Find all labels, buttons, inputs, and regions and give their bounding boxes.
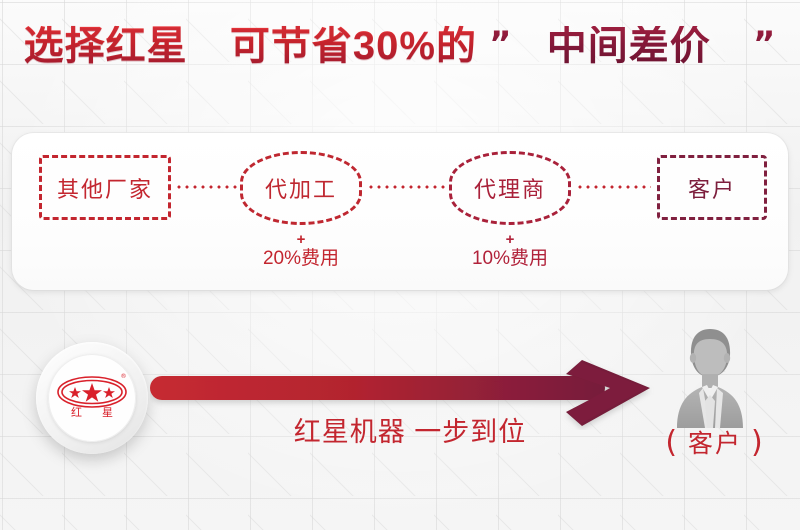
fee-amount: 10%费用 xyxy=(449,248,571,270)
hongxing-star-logo-icon: ® 红 星 xyxy=(48,354,136,442)
quote-open-mark: ” xyxy=(489,27,512,61)
connector-dots-1 xyxy=(175,185,237,189)
flow-node-label: 其他厂家 xyxy=(57,172,153,204)
headline-part1: 选择红星 xyxy=(24,26,188,66)
brand-logo-inner: ® 红 星 xyxy=(48,354,136,442)
bracket-left: ( xyxy=(665,425,679,460)
logo-brand-left: 红 xyxy=(71,406,82,419)
headline-emphasis: 中间差价 xyxy=(547,26,711,66)
flow-node-oem-processing: 代加工 xyxy=(240,151,362,225)
flow-row: 其他厂家 代加工 + 20%费用 代理商 + 10%费用 客户 xyxy=(12,133,788,290)
registered-mark: ® xyxy=(121,373,127,380)
logo-brand-right: 星 xyxy=(102,406,113,419)
page-title: 选择红星 可节省30%的 ” 中间差价 ” xyxy=(0,26,800,66)
fee-amount: 20%费用 xyxy=(240,248,362,270)
fee-plus-sign: + xyxy=(240,231,362,248)
flow-node-label: 客户 xyxy=(688,172,736,204)
fee-block-agent: + 10%费用 xyxy=(449,231,571,270)
flow-node-other-manufacturer: 其他厂家 xyxy=(39,155,171,220)
customer-label-tag: ( 客户 ) xyxy=(640,424,790,460)
fee-block-oem: + 20%费用 xyxy=(240,231,362,270)
flow-node-agent: 代理商 xyxy=(449,151,571,225)
quote-close-mark: ” xyxy=(753,27,776,61)
flow-node-label: 代加工 xyxy=(265,172,337,204)
businessman-silhouette-icon xyxy=(655,325,765,430)
connector-dots-3 xyxy=(576,185,651,189)
flow-node-label: 代理商 xyxy=(474,172,546,204)
flow-node-customer: 客户 xyxy=(657,155,767,220)
fee-plus-sign: + xyxy=(449,231,571,248)
connector-dots-2 xyxy=(367,185,445,189)
cost-chain-panel: 其他厂家 代加工 + 20%费用 代理商 + 10%费用 客户 xyxy=(12,133,788,290)
brand-logo-badge: ® 红 星 xyxy=(36,342,148,454)
headline-part2: 可节省30%的 xyxy=(230,26,477,66)
customer-avatar xyxy=(655,325,765,430)
bottom-slogan: 红星机器 一步到位 xyxy=(240,410,580,449)
bracket-right: ) xyxy=(751,425,765,460)
customer-label-text: 客户 xyxy=(688,430,742,458)
